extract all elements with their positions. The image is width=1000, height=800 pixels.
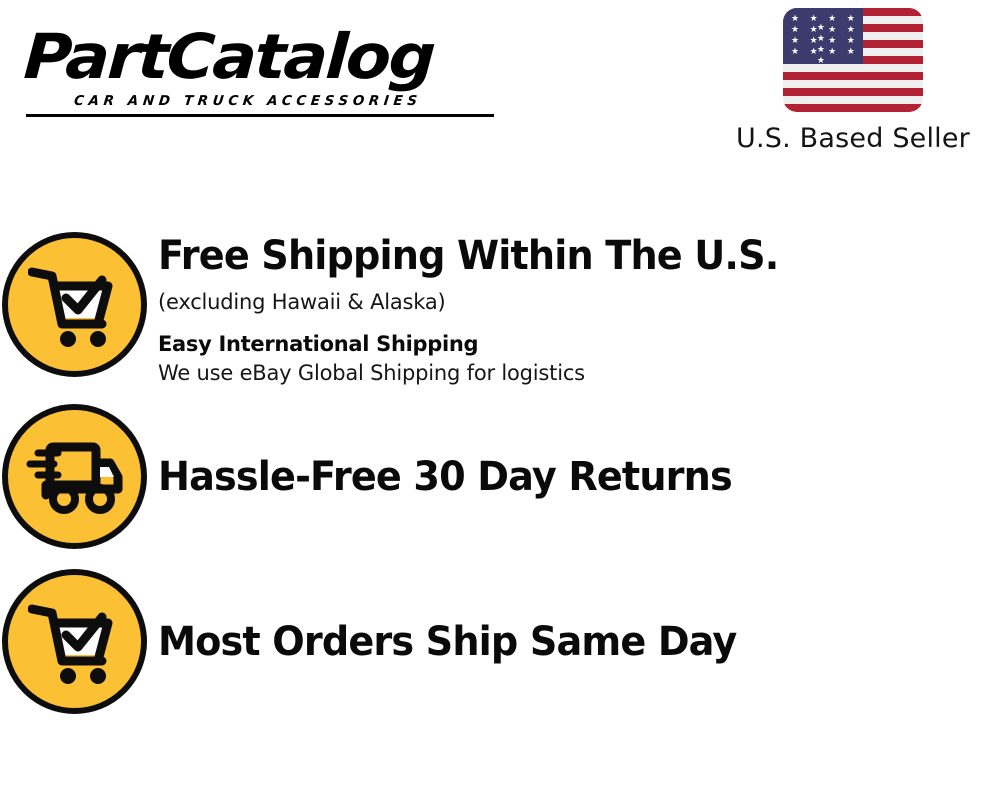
feature-secondary-subtitle: We use eBay Global Shipping for logistic…: [158, 359, 1000, 388]
feature-list: Free Shipping Within The U.S. (excluding…: [0, 232, 1000, 714]
us-based-seller-label: U.S. Based Seller: [722, 123, 984, 154]
shopping-cart-check-icon: [2, 569, 147, 714]
feature-row: Hassle-Free 30 Day Returns: [0, 404, 1000, 549]
us-flag-icon: ★ ★ ★ ★ ★ ★ ★ ★ ★ ★ ★ ★ ★ ★ ★ ★ ★ ★ ★ ★: [783, 8, 923, 112]
logo-tagline: CAR AND TRUCK ACCESSORIES: [73, 93, 495, 109]
brand-logo[interactable]: PartCatalog CAR AND TRUCK ACCESSORIES: [24, 22, 494, 117]
flag-canton: ★ ★ ★ ★ ★ ★ ★ ★ ★ ★ ★ ★ ★ ★ ★ ★ ★ ★ ★ ★: [783, 8, 863, 64]
feature-text: Most Orders Ship Same Day: [148, 618, 1000, 666]
feature-secondary-title: Easy International Shipping: [158, 330, 1000, 359]
flag-stripe: [783, 88, 923, 96]
feature-row: Free Shipping Within The U.S. (excluding…: [0, 232, 1000, 388]
feature-row: Most Orders Ship Same Day: [0, 569, 1000, 714]
feature-text: Free Shipping Within The U.S. (excluding…: [148, 232, 1000, 388]
feature-icon-wrap: [0, 569, 148, 714]
us-based-seller-badge: ★ ★ ★ ★ ★ ★ ★ ★ ★ ★ ★ ★ ★ ★ ★ ★ ★ ★ ★ ★ …: [722, 8, 984, 154]
feature-icon-wrap: [0, 232, 148, 377]
flag-stripe: [783, 104, 923, 112]
flag-stripe: [783, 72, 923, 80]
logo-underline: [26, 114, 494, 117]
delivery-truck-icon: [2, 404, 147, 549]
feature-text: Hassle-Free 30 Day Returns: [148, 453, 1000, 501]
feature-title: Most Orders Ship Same Day: [158, 618, 962, 666]
shopping-cart-check-icon: [2, 232, 147, 377]
feature-icon-wrap: [0, 404, 148, 549]
feature-title: Free Shipping Within The U.S.: [158, 232, 962, 280]
page-header: PartCatalog CAR AND TRUCK ACCESSORIES ★ …: [0, 0, 1000, 175]
flag-star-row: ★ ★ ★ ★ ★: [783, 47, 863, 65]
feature-subtitle: (excluding Hawaii & Alaska): [158, 287, 1000, 317]
logo-wordmark: PartCatalog: [22, 22, 524, 92]
feature-title: Hassle-Free 30 Day Returns: [158, 453, 962, 501]
